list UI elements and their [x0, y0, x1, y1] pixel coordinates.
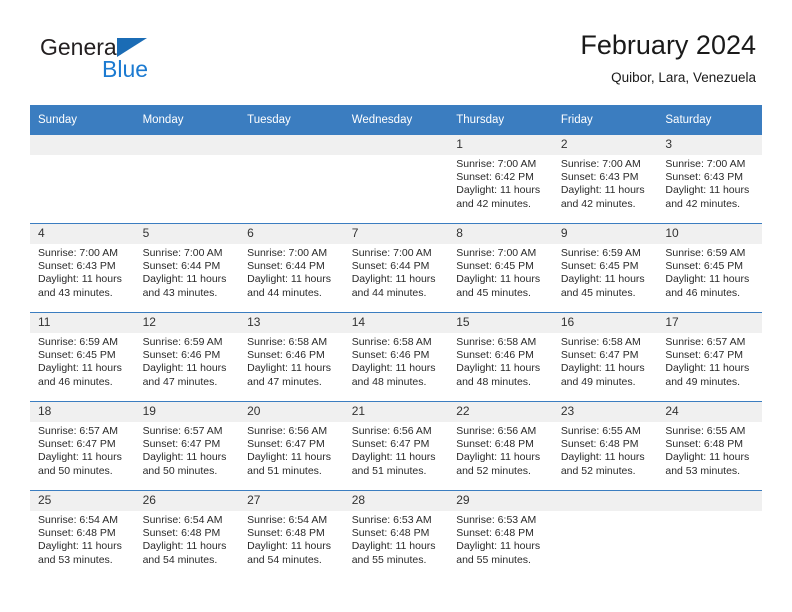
day-cell-inner: 27Sunrise: 6:54 AMSunset: 6:48 PMDayligh… [239, 491, 344, 579]
day-sun-info: Sunrise: 6:57 AMSunset: 6:47 PMDaylight:… [657, 333, 762, 389]
day-number: 12 [135, 313, 240, 333]
day-cell-inner: 17Sunrise: 6:57 AMSunset: 6:47 PMDayligh… [657, 313, 762, 401]
day-cell-inner: 19Sunrise: 6:57 AMSunset: 6:47 PMDayligh… [135, 402, 240, 490]
daylight-text: Daylight: 11 hours and 55 minutes. [352, 540, 443, 566]
daylight-text: Daylight: 11 hours and 49 minutes. [561, 362, 652, 388]
daylight-text: Daylight: 11 hours and 48 minutes. [456, 362, 547, 388]
day-cell-inner: 3Sunrise: 7:00 AMSunset: 6:43 PMDaylight… [657, 135, 762, 223]
day-number: 15 [448, 313, 553, 333]
day-number: 24 [657, 402, 762, 422]
daylight-text: Daylight: 11 hours and 50 minutes. [143, 451, 234, 477]
sunset-text: Sunset: 6:47 PM [352, 438, 443, 451]
page-title: February 2024 [580, 28, 756, 62]
day-number: 6 [239, 224, 344, 244]
daylight-text: Daylight: 11 hours and 42 minutes. [665, 184, 756, 210]
day-cell-inner: 22Sunrise: 6:56 AMSunset: 6:48 PMDayligh… [448, 402, 553, 490]
title-block: February 2024 Quibor, Lara, Venezuela [580, 28, 756, 88]
sunrise-text: Sunrise: 6:53 AM [352, 514, 443, 527]
sunrise-text: Sunrise: 6:56 AM [352, 425, 443, 438]
day-number: 28 [344, 491, 449, 511]
sunset-text: Sunset: 6:48 PM [561, 438, 652, 451]
calendar-day-cell[interactable]: 19Sunrise: 6:57 AMSunset: 6:47 PMDayligh… [135, 402, 240, 491]
sunset-text: Sunset: 6:44 PM [247, 260, 338, 273]
calendar-day-cell[interactable]: 25Sunrise: 6:54 AMSunset: 6:48 PMDayligh… [30, 491, 135, 580]
day-cell-inner [344, 135, 449, 223]
day-number [344, 135, 449, 155]
weekday-header-thursday: Thursday [448, 105, 553, 135]
day-number: 18 [30, 402, 135, 422]
daylight-text: Daylight: 11 hours and 43 minutes. [143, 273, 234, 299]
daylight-text: Daylight: 11 hours and 43 minutes. [38, 273, 129, 299]
sunset-text: Sunset: 6:44 PM [143, 260, 234, 273]
sunrise-text: Sunrise: 6:59 AM [143, 336, 234, 349]
sunset-text: Sunset: 6:42 PM [456, 171, 547, 184]
sunset-text: Sunset: 6:48 PM [38, 527, 129, 540]
daylight-text: Daylight: 11 hours and 44 minutes. [247, 273, 338, 299]
sunset-text: Sunset: 6:48 PM [247, 527, 338, 540]
sunset-text: Sunset: 6:43 PM [561, 171, 652, 184]
day-cell-inner: 11Sunrise: 6:59 AMSunset: 6:45 PMDayligh… [30, 313, 135, 401]
day-number: 4 [30, 224, 135, 244]
day-sun-info: Sunrise: 6:59 AMSunset: 6:45 PMDaylight:… [553, 244, 658, 300]
day-sun-info: Sunrise: 7:00 AMSunset: 6:43 PMDaylight:… [30, 244, 135, 300]
day-number: 14 [344, 313, 449, 333]
day-number: 9 [553, 224, 658, 244]
day-cell-inner [239, 135, 344, 223]
daylight-text: Daylight: 11 hours and 48 minutes. [352, 362, 443, 388]
day-cell-inner: 16Sunrise: 6:58 AMSunset: 6:47 PMDayligh… [553, 313, 658, 401]
weekday-header-friday: Friday [553, 105, 658, 135]
weekday-header-sunday: Sunday [30, 105, 135, 135]
sunset-text: Sunset: 6:45 PM [38, 349, 129, 362]
day-cell-inner: 26Sunrise: 6:54 AMSunset: 6:48 PMDayligh… [135, 491, 240, 579]
day-number: 5 [135, 224, 240, 244]
daylight-text: Daylight: 11 hours and 54 minutes. [143, 540, 234, 566]
day-number: 17 [657, 313, 762, 333]
day-sun-info: Sunrise: 6:56 AMSunset: 6:47 PMDaylight:… [239, 422, 344, 478]
day-cell-inner: 18Sunrise: 6:57 AMSunset: 6:47 PMDayligh… [30, 402, 135, 490]
day-sun-info: Sunrise: 6:54 AMSunset: 6:48 PMDaylight:… [239, 511, 344, 567]
day-cell-inner: 4Sunrise: 7:00 AMSunset: 6:43 PMDaylight… [30, 224, 135, 312]
calendar-day-cell[interactable]: 2Sunrise: 7:00 AMSunset: 6:43 PMDaylight… [553, 135, 658, 224]
calendar-day-cell[interactable]: 4Sunrise: 7:00 AMSunset: 6:43 PMDaylight… [30, 224, 135, 313]
calendar-day-cell[interactable]: 28Sunrise: 6:53 AMSunset: 6:48 PMDayligh… [344, 491, 449, 580]
calendar-page: General Blue February 2024 Quibor, Lara,… [0, 0, 792, 612]
day-sun-info: Sunrise: 6:59 AMSunset: 6:45 PMDaylight:… [657, 244, 762, 300]
day-sun-info: Sunrise: 6:55 AMSunset: 6:48 PMDaylight:… [657, 422, 762, 478]
sunrise-text: Sunrise: 6:59 AM [561, 247, 652, 260]
sunrise-text: Sunrise: 6:58 AM [352, 336, 443, 349]
calendar-day-cell[interactable]: 24Sunrise: 6:55 AMSunset: 6:48 PMDayligh… [657, 402, 762, 491]
day-cell-inner [657, 491, 762, 579]
day-sun-info: Sunrise: 6:58 AMSunset: 6:46 PMDaylight:… [239, 333, 344, 389]
calendar-week-row: 11Sunrise: 6:59 AMSunset: 6:45 PMDayligh… [30, 313, 762, 402]
day-sun-info: Sunrise: 6:55 AMSunset: 6:48 PMDaylight:… [553, 422, 658, 478]
day-number: 19 [135, 402, 240, 422]
daylight-text: Daylight: 11 hours and 45 minutes. [561, 273, 652, 299]
sunset-text: Sunset: 6:47 PM [143, 438, 234, 451]
sunset-text: Sunset: 6:47 PM [38, 438, 129, 451]
day-number: 1 [448, 135, 553, 155]
day-sun-info: Sunrise: 6:53 AMSunset: 6:48 PMDaylight:… [448, 511, 553, 567]
day-sun-info: Sunrise: 7:00 AMSunset: 6:44 PMDaylight:… [135, 244, 240, 300]
day-number [135, 135, 240, 155]
sunrise-text: Sunrise: 6:56 AM [456, 425, 547, 438]
calendar-day-cell[interactable]: 3Sunrise: 7:00 AMSunset: 6:43 PMDaylight… [657, 135, 762, 224]
daylight-text: Daylight: 11 hours and 55 minutes. [456, 540, 547, 566]
day-cell-inner: 20Sunrise: 6:56 AMSunset: 6:47 PMDayligh… [239, 402, 344, 490]
weekday-header-wednesday: Wednesday [344, 105, 449, 135]
logo-triangle-icon [117, 38, 147, 57]
calendar-week-row: 1Sunrise: 7:00 AMSunset: 6:42 PMDaylight… [30, 135, 762, 224]
sunrise-text: Sunrise: 6:57 AM [38, 425, 129, 438]
day-sun-info: Sunrise: 7:00 AMSunset: 6:44 PMDaylight:… [344, 244, 449, 300]
day-sun-info: Sunrise: 7:00 AMSunset: 6:45 PMDaylight:… [448, 244, 553, 300]
sunrise-text: Sunrise: 7:00 AM [247, 247, 338, 260]
day-cell-inner: 1Sunrise: 7:00 AMSunset: 6:42 PMDaylight… [448, 135, 553, 223]
day-cell-inner: 7Sunrise: 7:00 AMSunset: 6:44 PMDaylight… [344, 224, 449, 312]
sunrise-text: Sunrise: 6:59 AM [38, 336, 129, 349]
day-cell-inner: 24Sunrise: 6:55 AMSunset: 6:48 PMDayligh… [657, 402, 762, 490]
day-cell-inner: 25Sunrise: 6:54 AMSunset: 6:48 PMDayligh… [30, 491, 135, 579]
daylight-text: Daylight: 11 hours and 42 minutes. [456, 184, 547, 210]
calendar-body: 1Sunrise: 7:00 AMSunset: 6:42 PMDaylight… [30, 135, 762, 579]
sunset-text: Sunset: 6:46 PM [247, 349, 338, 362]
sunrise-text: Sunrise: 6:58 AM [247, 336, 338, 349]
daylight-text: Daylight: 11 hours and 52 minutes. [561, 451, 652, 477]
sunrise-text: Sunrise: 6:59 AM [665, 247, 756, 260]
calendar-day-cell[interactable]: 11Sunrise: 6:59 AMSunset: 6:45 PMDayligh… [30, 313, 135, 402]
day-number: 26 [135, 491, 240, 511]
sunset-text: Sunset: 6:48 PM [143, 527, 234, 540]
day-cell-inner: 21Sunrise: 6:56 AMSunset: 6:47 PMDayligh… [344, 402, 449, 490]
sunset-text: Sunset: 6:43 PM [665, 171, 756, 184]
calendar-day-cell[interactable]: 29Sunrise: 6:53 AMSunset: 6:48 PMDayligh… [448, 491, 553, 580]
page-subtitle: Quibor, Lara, Venezuela [580, 68, 756, 88]
calendar-day-cell[interactable]: 26Sunrise: 6:54 AMSunset: 6:48 PMDayligh… [135, 491, 240, 580]
day-sun-info: Sunrise: 7:00 AMSunset: 6:43 PMDaylight:… [657, 155, 762, 211]
sunset-text: Sunset: 6:43 PM [38, 260, 129, 273]
sunset-text: Sunset: 6:48 PM [665, 438, 756, 451]
day-number: 27 [239, 491, 344, 511]
sunset-text: Sunset: 6:47 PM [247, 438, 338, 451]
day-sun-info: Sunrise: 6:54 AMSunset: 6:48 PMDaylight:… [135, 511, 240, 567]
sunrise-text: Sunrise: 7:00 AM [561, 158, 652, 171]
day-cell-inner [553, 491, 658, 579]
calendar-week-row: 4Sunrise: 7:00 AMSunset: 6:43 PMDaylight… [30, 224, 762, 313]
daylight-text: Daylight: 11 hours and 42 minutes. [561, 184, 652, 210]
sunrise-text: Sunrise: 6:57 AM [143, 425, 234, 438]
calendar-day-cell[interactable]: 17Sunrise: 6:57 AMSunset: 6:47 PMDayligh… [657, 313, 762, 402]
day-number: 2 [553, 135, 658, 155]
day-cell-inner [135, 135, 240, 223]
daylight-text: Daylight: 11 hours and 53 minutes. [38, 540, 129, 566]
sunrise-text: Sunrise: 7:00 AM [38, 247, 129, 260]
day-cell-inner: 10Sunrise: 6:59 AMSunset: 6:45 PMDayligh… [657, 224, 762, 312]
day-cell-inner: 15Sunrise: 6:58 AMSunset: 6:46 PMDayligh… [448, 313, 553, 401]
general-blue-logo[interactable]: General Blue [40, 34, 260, 94]
calendar-day-cell[interactable]: 8Sunrise: 7:00 AMSunset: 6:45 PMDaylight… [448, 224, 553, 313]
sunset-text: Sunset: 6:48 PM [352, 527, 443, 540]
day-sun-info: Sunrise: 6:59 AMSunset: 6:45 PMDaylight:… [30, 333, 135, 389]
day-cell-inner: 8Sunrise: 7:00 AMSunset: 6:45 PMDaylight… [448, 224, 553, 312]
logo-text-blue: Blue [102, 56, 148, 83]
calendar-day-cell[interactable]: 12Sunrise: 6:59 AMSunset: 6:46 PMDayligh… [135, 313, 240, 402]
sunset-text: Sunset: 6:46 PM [143, 349, 234, 362]
sunrise-text: Sunrise: 7:00 AM [352, 247, 443, 260]
calendar-day-cell[interactable]: 23Sunrise: 6:55 AMSunset: 6:48 PMDayligh… [553, 402, 658, 491]
sunset-text: Sunset: 6:44 PM [352, 260, 443, 273]
sunrise-text: Sunrise: 6:58 AM [561, 336, 652, 349]
daylight-text: Daylight: 11 hours and 53 minutes. [665, 451, 756, 477]
sunrise-text: Sunrise: 6:58 AM [456, 336, 547, 349]
daylight-text: Daylight: 11 hours and 50 minutes. [38, 451, 129, 477]
calendar-empty-cell [657, 491, 762, 580]
sunset-text: Sunset: 6:47 PM [665, 349, 756, 362]
day-number: 22 [448, 402, 553, 422]
calendar-day-cell[interactable]: 20Sunrise: 6:56 AMSunset: 6:47 PMDayligh… [239, 402, 344, 491]
day-sun-info: Sunrise: 6:57 AMSunset: 6:47 PMDaylight:… [30, 422, 135, 478]
calendar-day-cell[interactable]: 14Sunrise: 6:58 AMSunset: 6:46 PMDayligh… [344, 313, 449, 402]
calendar-day-cell[interactable]: 16Sunrise: 6:58 AMSunset: 6:47 PMDayligh… [553, 313, 658, 402]
weekday-header-monday: Monday [135, 105, 240, 135]
day-cell-inner: 9Sunrise: 6:59 AMSunset: 6:45 PMDaylight… [553, 224, 658, 312]
day-number [657, 491, 762, 511]
calendar-day-cell[interactable]: 7Sunrise: 7:00 AMSunset: 6:44 PMDaylight… [344, 224, 449, 313]
sunset-text: Sunset: 6:47 PM [561, 349, 652, 362]
sunrise-text: Sunrise: 7:00 AM [665, 158, 756, 171]
calendar-day-cell[interactable]: 13Sunrise: 6:58 AMSunset: 6:46 PMDayligh… [239, 313, 344, 402]
sunset-text: Sunset: 6:46 PM [456, 349, 547, 362]
day-cell-inner: 5Sunrise: 7:00 AMSunset: 6:44 PMDaylight… [135, 224, 240, 312]
day-number: 7 [344, 224, 449, 244]
sunset-text: Sunset: 6:45 PM [665, 260, 756, 273]
day-sun-info: Sunrise: 6:59 AMSunset: 6:46 PMDaylight:… [135, 333, 240, 389]
calendar-grid: Sunday Monday Tuesday Wednesday Thursday… [30, 105, 762, 579]
calendar-day-cell[interactable]: 15Sunrise: 6:58 AMSunset: 6:46 PMDayligh… [448, 313, 553, 402]
sunrise-text: Sunrise: 6:56 AM [247, 425, 338, 438]
day-number: 13 [239, 313, 344, 333]
day-sun-info: Sunrise: 6:58 AMSunset: 6:47 PMDaylight:… [553, 333, 658, 389]
sunrise-text: Sunrise: 7:00 AM [456, 247, 547, 260]
sunset-text: Sunset: 6:48 PM [456, 438, 547, 451]
daylight-text: Daylight: 11 hours and 46 minutes. [665, 273, 756, 299]
day-sun-info: Sunrise: 6:56 AMSunset: 6:47 PMDaylight:… [344, 422, 449, 478]
day-number: 23 [553, 402, 658, 422]
day-number: 3 [657, 135, 762, 155]
day-number: 25 [30, 491, 135, 511]
day-sun-info: Sunrise: 6:58 AMSunset: 6:46 PMDaylight:… [448, 333, 553, 389]
sunrise-text: Sunrise: 6:54 AM [247, 514, 338, 527]
day-cell-inner: 2Sunrise: 7:00 AMSunset: 6:43 PMDaylight… [553, 135, 658, 223]
day-number [30, 135, 135, 155]
day-sun-info: Sunrise: 7:00 AMSunset: 6:43 PMDaylight:… [553, 155, 658, 211]
day-sun-info: Sunrise: 6:57 AMSunset: 6:47 PMDaylight:… [135, 422, 240, 478]
calendar-day-cell[interactable]: 9Sunrise: 6:59 AMSunset: 6:45 PMDaylight… [553, 224, 658, 313]
sunrise-text: Sunrise: 6:57 AM [665, 336, 756, 349]
page-header: General Blue February 2024 Quibor, Lara,… [30, 28, 762, 100]
daylight-text: Daylight: 11 hours and 47 minutes. [143, 362, 234, 388]
daylight-text: Daylight: 11 hours and 44 minutes. [352, 273, 443, 299]
day-cell-inner: 23Sunrise: 6:55 AMSunset: 6:48 PMDayligh… [553, 402, 658, 490]
day-number [239, 135, 344, 155]
day-number: 11 [30, 313, 135, 333]
sunset-text: Sunset: 6:46 PM [352, 349, 443, 362]
weekday-header-saturday: Saturday [657, 105, 762, 135]
calendar-day-cell[interactable]: 5Sunrise: 7:00 AMSunset: 6:44 PMDaylight… [135, 224, 240, 313]
day-sun-info: Sunrise: 7:00 AMSunset: 6:44 PMDaylight:… [239, 244, 344, 300]
calendar-day-cell[interactable]: 10Sunrise: 6:59 AMSunset: 6:45 PMDayligh… [657, 224, 762, 313]
calendar-week-row: 25Sunrise: 6:54 AMSunset: 6:48 PMDayligh… [30, 491, 762, 580]
daylight-text: Daylight: 11 hours and 47 minutes. [247, 362, 338, 388]
daylight-text: Daylight: 11 hours and 51 minutes. [247, 451, 338, 477]
calendar-empty-cell [553, 491, 658, 580]
weekday-header-tuesday: Tuesday [239, 105, 344, 135]
calendar-empty-cell [135, 135, 240, 224]
day-cell-inner: 29Sunrise: 6:53 AMSunset: 6:48 PMDayligh… [448, 491, 553, 579]
daylight-text: Daylight: 11 hours and 51 minutes. [352, 451, 443, 477]
calendar-day-cell[interactable]: 1Sunrise: 7:00 AMSunset: 6:42 PMDaylight… [448, 135, 553, 224]
sunrise-text: Sunrise: 6:54 AM [143, 514, 234, 527]
calendar-week-row: 18Sunrise: 6:57 AMSunset: 6:47 PMDayligh… [30, 402, 762, 491]
calendar-empty-cell [344, 135, 449, 224]
calendar-day-cell[interactable]: 18Sunrise: 6:57 AMSunset: 6:47 PMDayligh… [30, 402, 135, 491]
day-number: 10 [657, 224, 762, 244]
day-number: 8 [448, 224, 553, 244]
daylight-text: Daylight: 11 hours and 54 minutes. [247, 540, 338, 566]
sunrise-text: Sunrise: 7:00 AM [456, 158, 547, 171]
daylight-text: Daylight: 11 hours and 46 minutes. [38, 362, 129, 388]
daylight-text: Daylight: 11 hours and 49 minutes. [665, 362, 756, 388]
calendar-empty-cell [239, 135, 344, 224]
day-number: 29 [448, 491, 553, 511]
calendar-empty-cell [30, 135, 135, 224]
sunrise-text: Sunrise: 7:00 AM [143, 247, 234, 260]
day-number: 20 [239, 402, 344, 422]
daylight-text: Daylight: 11 hours and 52 minutes. [456, 451, 547, 477]
day-sun-info: Sunrise: 6:56 AMSunset: 6:48 PMDaylight:… [448, 422, 553, 478]
sunrise-text: Sunrise: 6:54 AM [38, 514, 129, 527]
day-number: 21 [344, 402, 449, 422]
calendar-day-cell[interactable]: 6Sunrise: 7:00 AMSunset: 6:44 PMDaylight… [239, 224, 344, 313]
day-cell-inner [30, 135, 135, 223]
sunrise-text: Sunrise: 6:53 AM [456, 514, 547, 527]
day-cell-inner: 6Sunrise: 7:00 AMSunset: 6:44 PMDaylight… [239, 224, 344, 312]
day-cell-inner: 12Sunrise: 6:59 AMSunset: 6:46 PMDayligh… [135, 313, 240, 401]
sunset-text: Sunset: 6:45 PM [456, 260, 547, 273]
day-sun-info: Sunrise: 6:53 AMSunset: 6:48 PMDaylight:… [344, 511, 449, 567]
day-cell-inner: 13Sunrise: 6:58 AMSunset: 6:46 PMDayligh… [239, 313, 344, 401]
sunrise-text: Sunrise: 6:55 AM [561, 425, 652, 438]
calendar-day-cell[interactable]: 22Sunrise: 6:56 AMSunset: 6:48 PMDayligh… [448, 402, 553, 491]
calendar-header-row: Sunday Monday Tuesday Wednesday Thursday… [30, 105, 762, 135]
day-number: 16 [553, 313, 658, 333]
day-sun-info: Sunrise: 6:58 AMSunset: 6:46 PMDaylight:… [344, 333, 449, 389]
sunrise-text: Sunrise: 6:55 AM [665, 425, 756, 438]
day-sun-info: Sunrise: 6:54 AMSunset: 6:48 PMDaylight:… [30, 511, 135, 567]
day-cell-inner: 14Sunrise: 6:58 AMSunset: 6:46 PMDayligh… [344, 313, 449, 401]
calendar-day-cell[interactable]: 27Sunrise: 6:54 AMSunset: 6:48 PMDayligh… [239, 491, 344, 580]
sunset-text: Sunset: 6:45 PM [561, 260, 652, 273]
calendar-table: Sunday Monday Tuesday Wednesday Thursday… [30, 105, 762, 579]
day-number [553, 491, 658, 511]
calendar-day-cell[interactable]: 21Sunrise: 6:56 AMSunset: 6:47 PMDayligh… [344, 402, 449, 491]
daylight-text: Daylight: 11 hours and 45 minutes. [456, 273, 547, 299]
day-cell-inner: 28Sunrise: 6:53 AMSunset: 6:48 PMDayligh… [344, 491, 449, 579]
day-sun-info: Sunrise: 7:00 AMSunset: 6:42 PMDaylight:… [448, 155, 553, 211]
sunset-text: Sunset: 6:48 PM [456, 527, 547, 540]
